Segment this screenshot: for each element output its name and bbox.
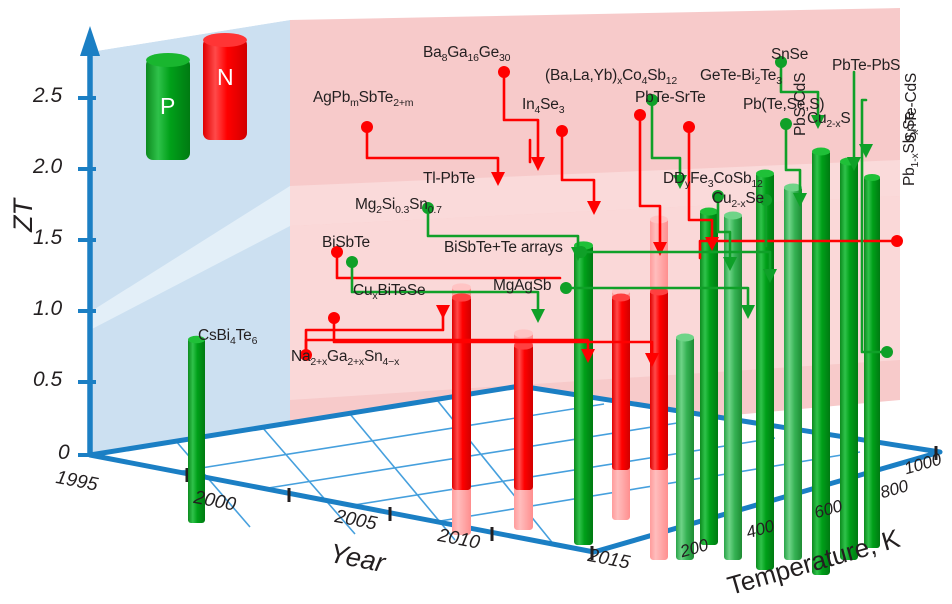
- bar-16: [840, 160, 858, 560]
- legend-n-cylinder-top: [203, 33, 247, 47]
- annotation-SnSe: SnSe: [771, 46, 808, 64]
- annotation-PbS-CdS: PbS-CdS: [792, 73, 810, 136]
- bar-12: [724, 214, 742, 560]
- bar-11: [700, 210, 718, 545]
- annotation-CuxBiTeSe: CuxBiTeSe: [353, 282, 425, 302]
- annotation-DDyFe3CoSb12: DDyFe3CoSb12: [663, 170, 763, 190]
- bar-top-17: [864, 174, 880, 181]
- legend-n-label: N: [217, 64, 234, 91]
- annotation-Cu2-xSe: Cu2-xSe: [712, 190, 764, 210]
- annotation-In4Se3: In4Se3: [522, 96, 564, 116]
- annotation-Mg2Si03Sn07: Mg2Si0.3Sn0.7: [355, 196, 442, 216]
- annotation-BaLaYbxCo4Sb12: (Ba,La,Yb)xCo4Sb12: [545, 67, 677, 87]
- y-tick-0: 0: [58, 441, 70, 465]
- y-tick-15: 1.5: [33, 226, 62, 250]
- bar-10: [676, 336, 694, 560]
- annotation-BiSbTe-Te-arrays: BiSbTe+Te arrays: [444, 239, 563, 257]
- y-tick-05: 0.5: [33, 368, 62, 392]
- bar-7: [612, 296, 630, 470]
- thermoelectric-zt-chart: P N ZT Year Temperature, K 0 0.5 1.0 1.5…: [0, 0, 952, 604]
- annotation-Tl-PbTe: Tl-PbTe: [423, 170, 475, 188]
- annotation-PbTe-SrTe: PbTe-SrTe: [635, 89, 706, 107]
- annotation-Na2+xGa2+xSn4-x: Na2+xGa2+xSn4−x: [291, 348, 399, 368]
- bar-9: [650, 290, 668, 470]
- bar-4: [514, 344, 533, 490]
- y-tick-10: 1.0: [33, 297, 62, 321]
- annotation-BiSbTe: BiSbTe: [322, 234, 370, 252]
- annotation-GeTe-Bi2Te3: GeTe-Bi2Te3: [700, 67, 782, 87]
- annotation-AgPbmSbTe2+m: AgPbmSbTe2+m: [313, 89, 413, 109]
- bar-top-7: [612, 294, 630, 302]
- annotation-Ba8Ga16Ge30: Ba8Ga16Ge30: [423, 44, 510, 64]
- y-tick-25: 2.5: [33, 84, 62, 108]
- bar-top-2: [452, 293, 471, 301]
- annotation-Pb1-xSbxSe: Pb1-xSbxSe: [901, 111, 921, 186]
- annotation-MgAgSb: MgAgSb: [493, 277, 551, 295]
- y-tick-20: 2.0: [33, 155, 62, 179]
- bar-top-12: [724, 212, 742, 220]
- annotation-Cu2-xS: Cu2-xS: [807, 110, 851, 130]
- bar-top-3: [514, 329, 533, 337]
- bar-top-1: [452, 283, 471, 291]
- bar-17: [864, 176, 880, 548]
- bar-top-15: [812, 148, 830, 156]
- legend-p-label: P: [160, 93, 175, 120]
- legend-p-cylinder-top: [146, 53, 190, 67]
- bar-2: [452, 296, 471, 490]
- annotation-PbTe-PbS: PbTe-PbS: [832, 57, 900, 75]
- annotation-CsBi4Te6: CsBi4Te6: [198, 327, 257, 347]
- bar-top-10: [676, 334, 694, 342]
